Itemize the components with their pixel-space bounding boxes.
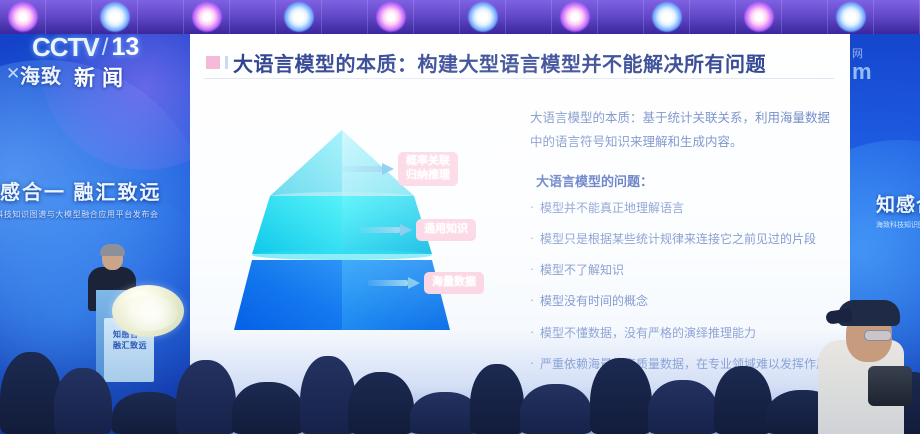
audience-head: [520, 384, 592, 434]
cctv-letters: CCTV: [32, 32, 99, 63]
backdrop-headline: 知感合一 融汇致远: [0, 176, 193, 205]
slide-title: 大语言模型的本质：构建大型语言模型并不能解决所有问题: [233, 48, 766, 77]
pyramid-tag-top-line1: 概率关联: [406, 155, 450, 169]
pyramid-tag-top: 概率关联 归纳推理: [398, 152, 458, 186]
slide-bullet-item: 模型不了解知识: [530, 262, 840, 278]
audience-head: [714, 366, 772, 434]
handheld-camera: [868, 366, 912, 406]
audience-head: [176, 360, 236, 434]
speaker-hair: [100, 244, 125, 256]
truss-panel: [46, 0, 92, 34]
stage-lamp: [744, 2, 774, 32]
slide-bullet-item: 模型并不能真正地理解语言: [530, 200, 840, 216]
slide-lede: 大语言模型的本质：基于统计关联关系，利用海量数据中的语言符号知识来理解和生成内容…: [530, 106, 840, 155]
stage-light-truss: [0, 0, 920, 34]
audience-head: [648, 380, 718, 434]
podium-sign-line2: 融汇致远: [108, 341, 152, 352]
title-bullet-bar-icon: [225, 56, 228, 69]
truss-panel: [782, 0, 828, 34]
audience-head: [232, 382, 304, 434]
title-bullet-square-icon: [206, 56, 220, 69]
cctv-slash-icon: /: [102, 34, 109, 62]
audience-head: [470, 364, 524, 434]
channel-logo-bug: CCTV / 13 新闻 ✕ 海致: [22, 30, 188, 94]
haizhi-watermark: 海致: [20, 60, 62, 89]
pyramid-callout-bottom: 海量数据: [368, 272, 484, 294]
truss-panel: [874, 0, 920, 34]
backdrop-banner-right: 知感合一 海致科技知识图谱: [876, 190, 920, 230]
backdrop-subline: 海致科技知识图谱与大模型融合应用平台发布会: [0, 209, 193, 220]
truss-panel: [506, 0, 552, 34]
pyramid-tag-bottom-line1: 海量数据: [432, 276, 476, 290]
backdrop-subline-right: 海致科技知识图谱: [876, 220, 920, 230]
broadcast-frame: 知感合一 融汇致远 海致科技知识图谱与大模型融合应用平台发布会 知感合一 海致科…: [0, 0, 920, 434]
truss-panel: [598, 0, 644, 34]
stage-lamp: [468, 2, 498, 32]
pyramid-callout-middle: 通用知识: [360, 219, 476, 241]
stage-lamp: [560, 2, 590, 32]
audience-head: [112, 392, 186, 434]
slide-sub-heading: 大语言模型的问题：: [530, 171, 840, 190]
title-divider: [204, 78, 834, 79]
slide-bullet-item: 模型只是根据某些统计规律来连接它之前见过的片段: [530, 231, 840, 247]
slide-bullet-item: 模型没有时间的概念: [530, 293, 840, 309]
program-name: 新闻: [74, 62, 130, 92]
audience-head: [54, 368, 112, 434]
flower-arrangement: [112, 285, 184, 337]
audience-head: [348, 372, 414, 434]
pyramid-callout-top: 概率关联 归纳推理: [342, 152, 458, 186]
pyramid-tag-top-line2: 归纳推理: [406, 169, 450, 183]
pyramid-tag-middle: 通用知识: [416, 219, 476, 241]
audience-head: [0, 352, 62, 434]
truss-panel: [322, 0, 368, 34]
haizhi-logo-icon: ✕: [6, 64, 20, 84]
backdrop-banner-left: 知感合一 融汇致远 海致科技知识图谱与大模型融合应用平台发布会: [0, 176, 193, 220]
slide-bullet-item: 模型不懂数据，没有严格的演绎推理能力: [530, 325, 840, 341]
backdrop-headline-right: 知感合一: [876, 190, 920, 217]
pyramid-tag-bottom: 海量数据: [424, 272, 484, 294]
arrow-right-icon: [342, 163, 394, 175]
audience-head: [590, 358, 652, 434]
truss-panel: [414, 0, 460, 34]
stage-lamp: [100, 2, 130, 32]
slide-title-row: 大语言模型的本质：构建大型语言模型并不能解决所有问题: [206, 48, 840, 77]
truss-panel: [690, 0, 736, 34]
cctv-wordmark: CCTV / 13: [32, 32, 139, 63]
slide-bullet-item: 严重依赖海量的高质量数据，在专业领域难以发挥作用: [530, 356, 840, 372]
arrow-right-icon: [360, 224, 412, 236]
corner-watermark: 网 m: [852, 48, 873, 84]
truss-panel: [138, 0, 184, 34]
pyramid-tag-middle-line1: 通用知识: [424, 223, 468, 237]
cctv-channel-number: 13: [111, 33, 139, 62]
stage-lamp: [284, 2, 314, 32]
cameraman-glasses: [864, 330, 892, 341]
corner-watermark-line2: m: [852, 60, 873, 84]
stage-lamp: [8, 2, 38, 32]
stage-lamp: [376, 2, 406, 32]
stage-lamp: [192, 2, 222, 32]
truss-panel: [230, 0, 276, 34]
arrow-right-icon: [368, 277, 420, 289]
slide-bullet-list: 模型并不能真正地理解语言模型只是根据某些统计规律来连接它之前见过的片段模型不了解…: [530, 200, 840, 372]
cameraman-figure: [818, 296, 920, 434]
stage-lamp: [652, 2, 682, 32]
stage-lamp: [836, 2, 866, 32]
slide-text-column: 大语言模型的本质：基于统计关联关系，利用海量数据中的语言符号知识来理解和生成内容…: [530, 106, 840, 387]
